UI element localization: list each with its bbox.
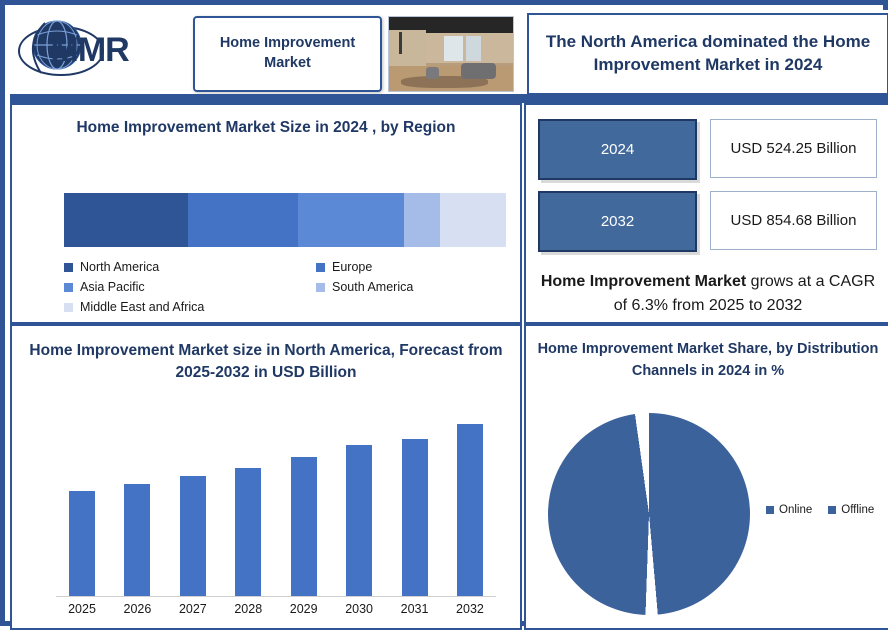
infographic-page: MMR Home Improvement Market The North Am… [0,0,888,626]
forecast-chart-title: Home Improvement Market size in North Am… [12,340,520,385]
bar-column [278,406,330,596]
legend-item-middle-east-africa: Middle East and Africa [64,300,316,314]
legend-label-europe: Europe [332,260,372,274]
value-box-2024: USD 524.25 Billion [710,119,877,178]
forecast-bars [56,406,496,596]
headline-box: The North America dominated the Home Imp… [527,13,888,95]
bar-column [389,406,441,596]
distribution-channel-pie [548,413,750,615]
legend-item-south-america: South America [316,280,413,294]
x-label-2026: 2026 [111,602,163,616]
year-label-2024: 2024 [601,141,634,158]
headline-text: The North America dominated the Home Imp… [529,31,887,77]
year-box-2032: 2032 [538,191,697,252]
legend-label-north-america: North America [80,260,159,274]
pie-legend-swatch-offline [828,506,836,514]
stack-segment-middle-east-africa [440,193,506,247]
x-label-2032: 2032 [444,602,496,616]
x-label-2028: 2028 [222,602,274,616]
stack-segment-south-america [404,193,439,247]
legend-swatch-middle-east-africa [64,303,73,312]
forecast-chart-card: Home Improvement Market size in North Am… [10,324,522,630]
value-label-2032: USD 854.68 Billion [731,212,857,229]
region-stacked-bar [64,193,506,247]
brand-logo: MMR [13,13,188,91]
report-title-box: Home Improvement Market [193,16,382,92]
header-divider-band [10,94,888,103]
report-title: Home Improvement Market [195,34,380,73]
year-label-2032: 2032 [601,213,634,230]
legend-item-europe: Europe [316,260,372,274]
x-label-2029: 2029 [278,602,330,616]
pie-legend-label-offline: Offline [841,504,874,516]
cagr-statement: Home Improvement Market grows at a CAGR … [536,270,880,318]
x-label-2030: 2030 [333,602,385,616]
bar-column [333,406,385,596]
stack-segment-north-america [64,193,188,247]
legend-swatch-south-america [316,283,325,292]
forecast-axis-line [56,596,496,597]
x-label-2027: 2027 [167,602,219,616]
value-label-2024: USD 524.25 Billion [731,140,857,157]
share-pie-title: Home Improvement Market Share, by Distri… [526,338,888,383]
year-box-2024: 2024 [538,119,697,180]
pie-legend: Online Offline [766,504,874,516]
x-label-2031: 2031 [389,602,441,616]
bar-column [167,406,219,596]
cagr-market-name: Home Improvement Market [541,273,746,290]
interior-room-photo [388,16,514,92]
region-share-card: Home Improvement Market Size in 2024 , b… [10,103,522,324]
legend-item-asia-pacific: Asia Pacific [64,280,316,294]
legend-swatch-north-america [64,263,73,272]
legend-label-south-america: South America [332,280,413,294]
stack-segment-asia-pacific [298,193,404,247]
x-label-2025: 2025 [56,602,108,616]
forecast-x-labels: 2025 2026 2027 2028 2029 2030 2031 2032 [56,602,496,616]
legend-swatch-europe [316,263,325,272]
bar-column [111,406,163,596]
brand-logo-text: MMR [51,31,129,70]
bar-column [56,406,108,596]
value-box-2032: USD 854.68 Billion [710,191,877,250]
share-pie-card: Home Improvement Market Share, by Distri… [524,324,888,630]
pie-legend-swatch-online [766,506,774,514]
legend-label-asia-pacific: Asia Pacific [80,280,145,294]
legend-label-middle-east-africa: Middle East and Africa [80,300,204,314]
region-share-title: Home Improvement Market Size in 2024 , b… [12,117,520,139]
header: MMR Home Improvement Market The North Am… [10,10,888,94]
legend-item-north-america: North America [64,260,316,274]
legend-swatch-asia-pacific [64,283,73,292]
stack-segment-europe [188,193,299,247]
bar-column [444,406,496,596]
region-legend: North America Europe Asia Pacific South … [64,257,494,317]
bar-column [222,406,274,596]
market-figures-card: 2024 USD 524.25 Billion 2032 USD 854.68 … [524,103,888,324]
pie-legend-label-online: Online [779,504,812,516]
